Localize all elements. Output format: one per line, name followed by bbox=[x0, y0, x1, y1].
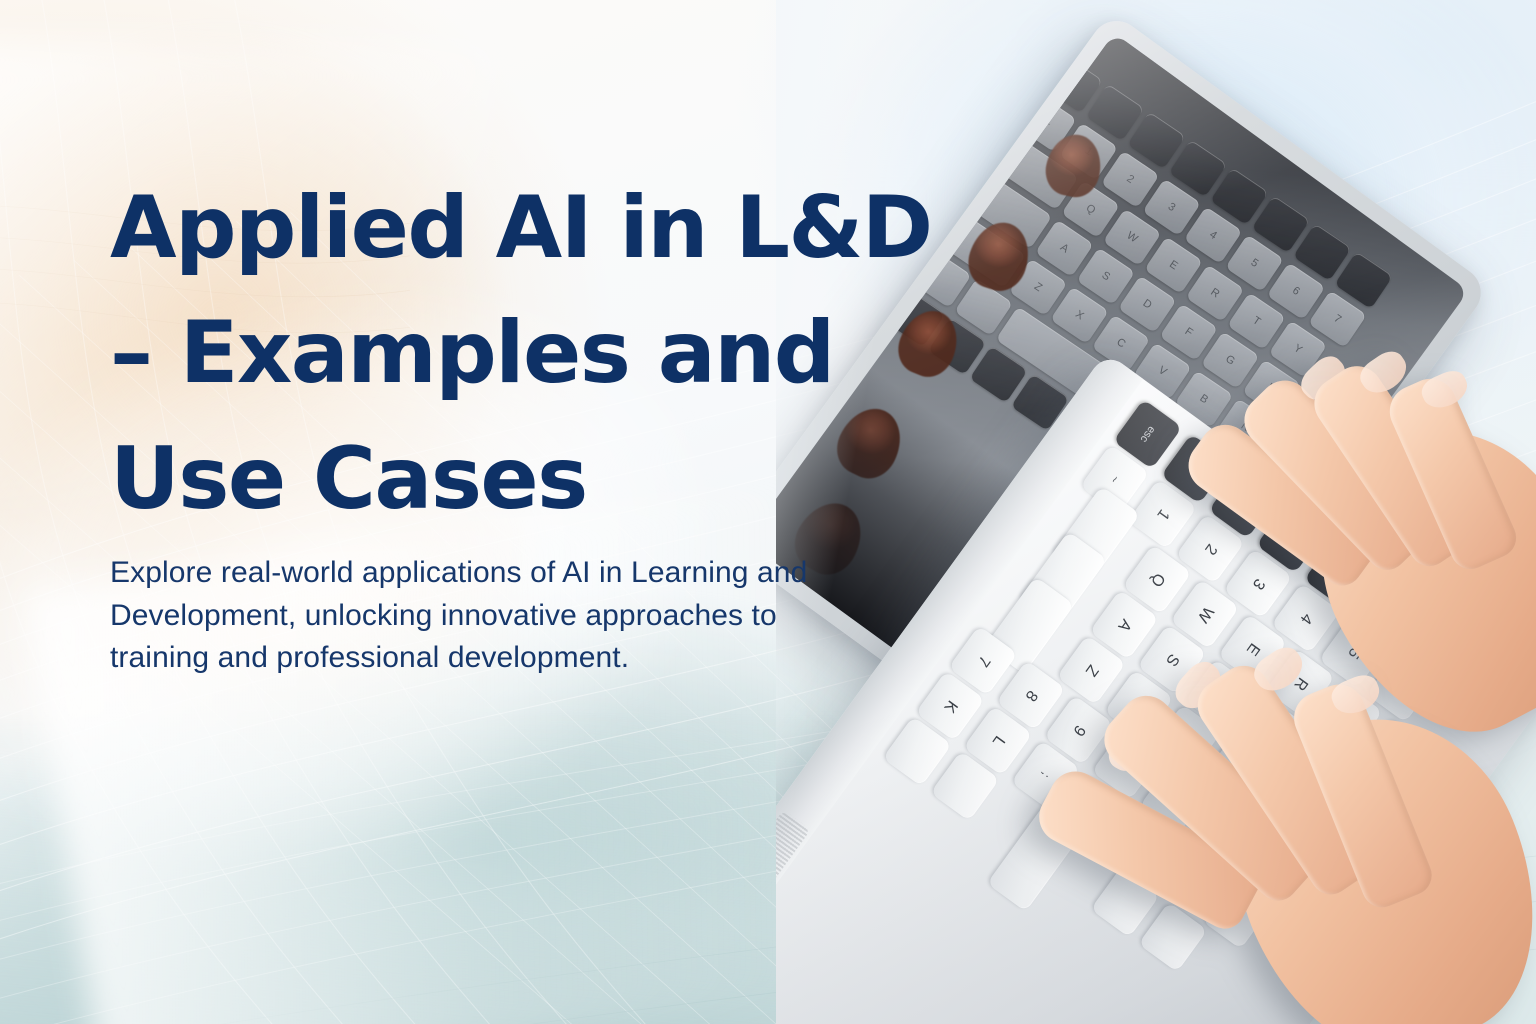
subtitle-line-2: Development, unlocking innovative approa… bbox=[110, 595, 920, 638]
page-title: Applied AI in L&D – Examples and Use Cas… bbox=[110, 166, 1090, 543]
page-subtitle: Explore real-world applications of AI in… bbox=[110, 552, 920, 680]
hero-banner: ~1234567 QWERTY ASDFGH ZXCVBN bbox=[0, 0, 1536, 1024]
subtitle-line-3: training and professional development. bbox=[110, 637, 920, 680]
hero-text-block: Applied AI in L&D – Examples and Use Cas… bbox=[0, 0, 1060, 1024]
subtitle-line-1: Explore real-world applications of AI in… bbox=[110, 552, 920, 595]
